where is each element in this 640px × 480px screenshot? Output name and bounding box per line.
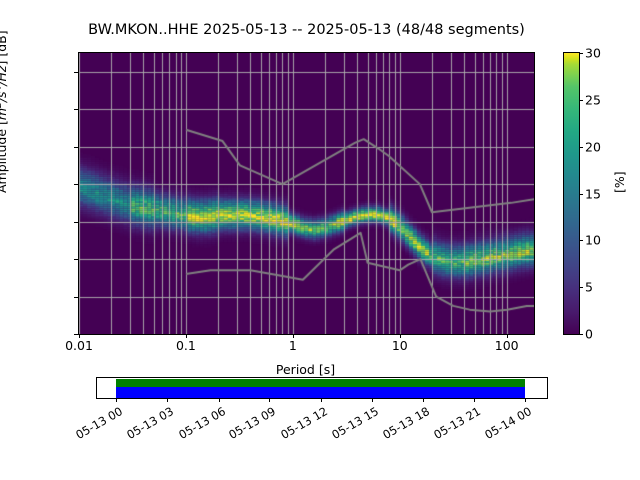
x-tick-label: 0.1 [176, 338, 196, 353]
colorbar-tick-label: 5 [585, 280, 593, 295]
timeline-tick-label: 05-13 12 [272, 404, 329, 445]
timeline-tick-mark [269, 398, 270, 402]
y-tick-mark [74, 147, 78, 148]
timeline-tick-mark [116, 398, 117, 402]
colorbar-gradient [564, 53, 579, 334]
timeline-tick-mark [474, 398, 475, 402]
colorbar [563, 52, 580, 335]
colorbar-tick-label: 15 [585, 186, 601, 201]
colorbar-tick-mark [579, 194, 583, 195]
x-tick-mark [186, 334, 187, 338]
colorbar-tick-mark [579, 53, 583, 54]
y-tick-mark [74, 109, 78, 110]
timeline-coverage-green [116, 379, 526, 387]
timeline-tick-label: 05-13 21 [426, 404, 483, 445]
colorbar-tick-mark [579, 240, 583, 241]
colorbar-tick-label: 20 [585, 139, 601, 154]
y-tick-mark [74, 259, 78, 260]
timeline-tick-label: 05-13 15 [324, 404, 381, 445]
timeline-tick-label: 05-13 00 [68, 404, 125, 445]
x-tick-label: 100 [495, 338, 519, 353]
timeline-coverage-blue [116, 387, 526, 398]
timeline-tick-mark [219, 398, 220, 402]
ppsd-density-canvas [79, 53, 534, 334]
x-tick-label: 0.01 [65, 338, 93, 353]
timeline-tick-mark [525, 398, 526, 402]
colorbar-tick-mark [579, 287, 583, 288]
colorbar-tick-label: 0 [585, 327, 593, 342]
colorbar-tick-mark [579, 100, 583, 101]
timeline-tick-label: 05-13 03 [119, 404, 176, 445]
x-tick-label: 10 [392, 338, 408, 353]
x-tick-mark [79, 334, 80, 338]
timeline-tick-mark [372, 398, 373, 402]
colorbar-tick-label: 25 [585, 92, 601, 107]
y-axis-label: Amplitude [m2/s4/Hz] [dB] [0, 30, 9, 193]
y-tick-mark [74, 184, 78, 185]
x-tick-mark [400, 334, 401, 338]
timeline-tick-label: 05-14 00 [477, 404, 534, 445]
colorbar-tick-mark [579, 334, 583, 335]
x-tick-mark [293, 334, 294, 338]
ppsd-plot-area[interactable] [78, 52, 535, 335]
x-tick-mark [507, 334, 508, 338]
timeline-tick-mark [167, 398, 168, 402]
timeline-tick-mark [321, 398, 322, 402]
x-axis-label: Period [s] [78, 362, 533, 377]
timeline-tick-label: 05-13 06 [170, 404, 227, 445]
timeline-tick-mark [423, 398, 424, 402]
colorbar-tick-mark [579, 147, 583, 148]
page-title: BW.MKON..HHE 2025-05-13 -- 2025-05-13 (4… [0, 22, 613, 38]
y-tick-mark [74, 297, 78, 298]
y-tick-mark [74, 72, 78, 73]
y-tick-mark [74, 222, 78, 223]
colorbar-tick-label: 30 [585, 46, 601, 61]
timeline-plot-area[interactable] [96, 377, 548, 399]
timeline-tick-label: 05-13 09 [221, 404, 278, 445]
colorbar-tick-label: 10 [585, 233, 601, 248]
colorbar-label: [%] [612, 171, 627, 193]
y-tick-mark [74, 334, 78, 335]
ppsd-figure: BW.MKON..HHE 2025-05-13 -- 2025-05-13 (4… [0, 0, 640, 480]
x-tick-label: 1 [289, 338, 297, 353]
timeline-tick-label: 05-13 18 [375, 404, 432, 445]
